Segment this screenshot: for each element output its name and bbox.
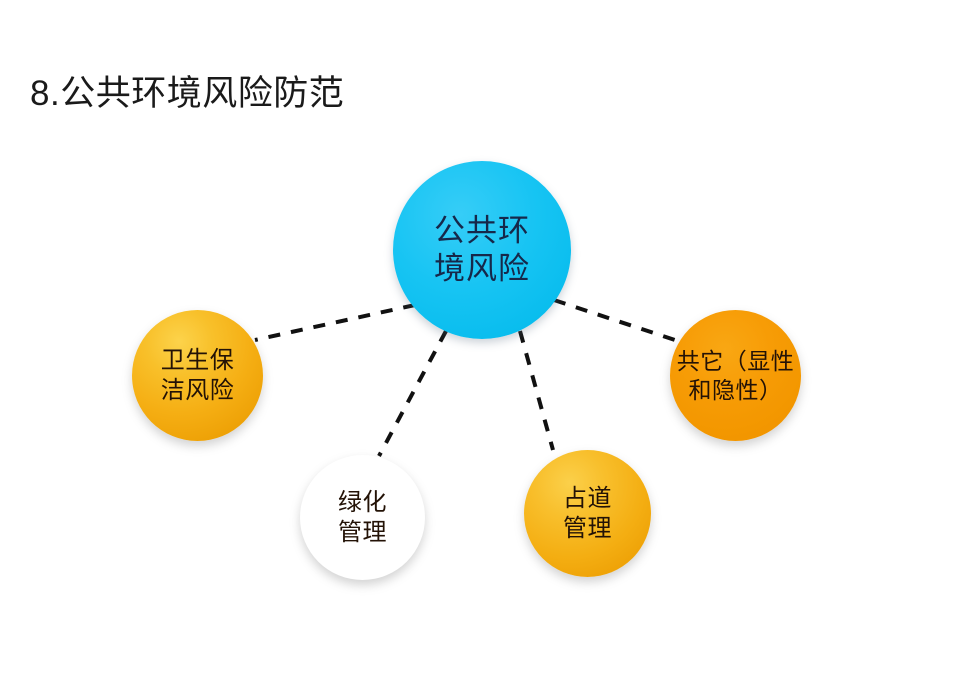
diagram-node-other-label: 共它（显性 和隐性） [673,347,799,403]
connector-center-to-road [520,331,553,450]
slide-canvas: 8.公共环境风险防范 公共环 境风险 卫生保 洁风险 绿化 管理 占道 管理 共… [0,0,960,680]
diagram-node-road[interactable]: 占道 管理 [524,450,651,577]
connector-center-to-greening [379,331,446,456]
diagram-node-sanitation[interactable]: 卫生保 洁风险 [132,310,263,441]
diagram-node-center-label: 公共环 境风险 [427,212,537,288]
diagram-node-other[interactable]: 共它（显性 和隐性） [670,310,801,441]
diagram-node-greening-label: 绿化 管理 [332,488,394,547]
diagram-node-greening[interactable]: 绿化 管理 [300,455,425,580]
connector-center-to-sanitation [255,305,415,340]
diagram-node-sanitation-label: 卫生保 洁风险 [152,346,244,405]
connector-center-to-other [554,300,684,343]
diagram-node-road-label: 占道 管理 [557,484,619,543]
diagram-node-center[interactable]: 公共环 境风险 [393,161,571,339]
